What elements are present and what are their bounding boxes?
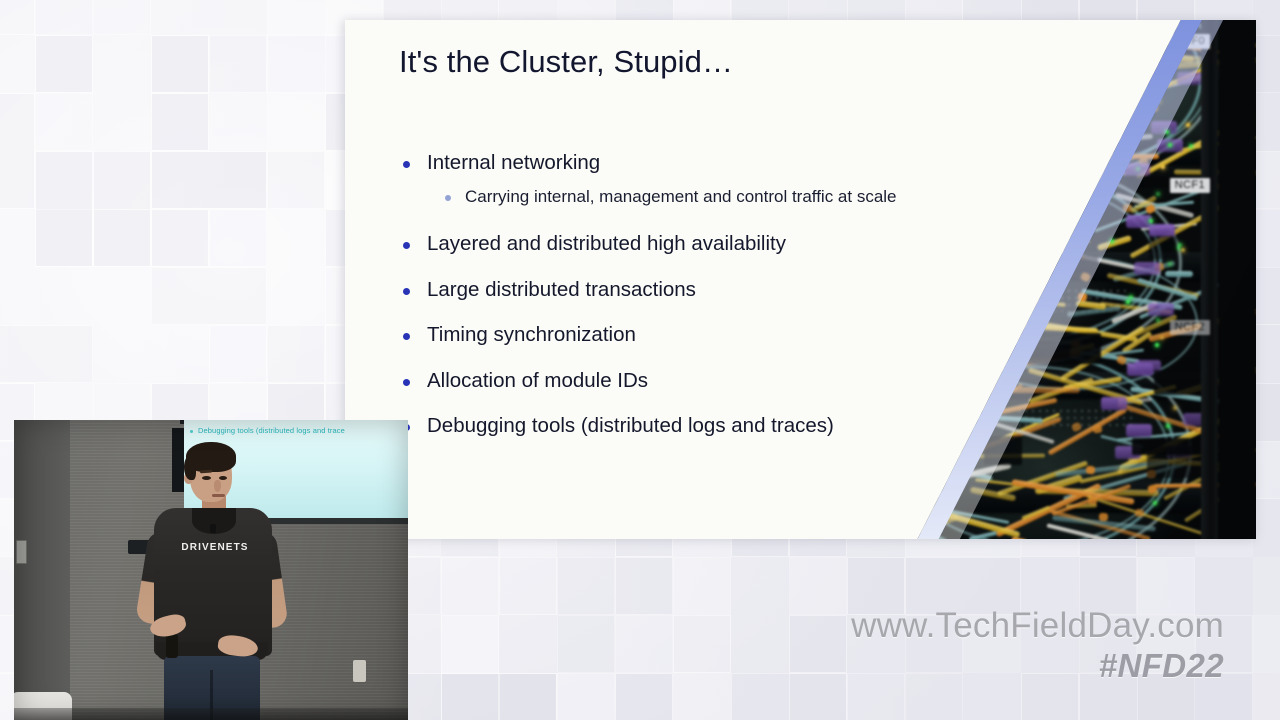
- rack-module: [1004, 67, 1041, 98]
- background-tile: [94, 0, 150, 34]
- rack-module: [1132, 438, 1205, 455]
- optical-connector: [1134, 262, 1160, 275]
- background-tile: [268, 152, 324, 208]
- background-tile: [36, 94, 92, 150]
- fiber-cable: [846, 74, 985, 103]
- fiber-cable: [885, 87, 973, 101]
- rack-label-ncf0: NCF0: [1170, 34, 1210, 49]
- slide-sub-bullet: Carrying internal, management and contro…: [445, 187, 963, 207]
- fiber-cable: [1010, 54, 1080, 68]
- background-tile: [94, 210, 150, 266]
- slide-bullet: Debugging tools (distributed logs and tr…: [403, 414, 963, 438]
- presenter-badge: [166, 634, 178, 658]
- fiber-cable: [1014, 90, 1085, 116]
- bullet-text: Timing synchronization: [427, 323, 636, 347]
- room-floor: [14, 708, 408, 720]
- room-wall-left: [14, 420, 70, 720]
- background-tile: [1254, 442, 1280, 498]
- bullet-dot-icon: [445, 195, 451, 201]
- fiber-cable: [1037, 23, 1071, 35]
- cable-boot: [988, 93, 999, 103]
- rack-module: [1127, 176, 1176, 189]
- slide-bullet: Allocation of module IDs: [403, 369, 963, 393]
- background-tile: [1254, 36, 1280, 92]
- background-tile: [790, 616, 846, 672]
- rack-label-ncf2: NCF2: [1170, 320, 1210, 335]
- fiber-cable: [991, 110, 1060, 156]
- bullet-text: Carrying internal, management and contro…: [465, 187, 897, 207]
- bullet-text: Layered and distributed high availabilit…: [427, 232, 786, 256]
- slide-bullet: Large distributed transactions: [403, 278, 963, 302]
- light-switch: [16, 540, 27, 564]
- video-player-frame: It's the Cluster, Stupid… Internal netwo…: [0, 0, 1280, 720]
- optical-connector: [1126, 424, 1152, 437]
- fiber-cable: [926, 50, 970, 65]
- background-tile: [558, 616, 614, 672]
- optical-connector: [1136, 71, 1162, 84]
- background-tile: [268, 94, 324, 150]
- status-led-icon: [1129, 295, 1133, 299]
- presenter-shirt-logo: DRIVENETS: [178, 542, 252, 553]
- vent-grille: [976, 170, 1096, 196]
- projected-bullet-dot: [190, 430, 193, 433]
- cable-boot: [1099, 513, 1108, 521]
- fiber-cable: [864, 31, 998, 37]
- status-led-icon: [1160, 336, 1164, 340]
- rack-module: [1040, 142, 1089, 176]
- background-tile: [1254, 268, 1280, 324]
- background-tile: [152, 210, 208, 266]
- rack-module: [1004, 71, 1071, 93]
- optical-connector: [1149, 224, 1175, 237]
- rack-module: [1059, 195, 1089, 220]
- bullet-dot-icon: [403, 379, 410, 386]
- cable-boot: [901, 117, 913, 128]
- fiber-cable: [881, 459, 960, 479]
- status-led-icon: [1165, 130, 1169, 134]
- rack-module: [1044, 222, 1094, 239]
- fiber-cable: [1045, 116, 1090, 133]
- status-led-icon: [1173, 406, 1177, 410]
- cable-boot: [907, 72, 919, 83]
- projected-slide-text: Debugging tools (distributed logs and tr…: [198, 426, 345, 435]
- background-tile: [558, 558, 614, 614]
- slide-title: It's the Cluster, Stupid…: [399, 44, 733, 80]
- fiber-cable: [872, 49, 939, 57]
- slide-bullet: Layered and distributed high availabilit…: [403, 232, 963, 256]
- background-tile: [0, 0, 34, 34]
- cable-boot: [1003, 181, 1013, 191]
- fiber-cable: [1067, 59, 1121, 79]
- cable-boot: [938, 85, 947, 93]
- optical-connector: [1148, 303, 1174, 316]
- bullet-dot-icon: [403, 242, 410, 249]
- optical-connector: [1101, 397, 1127, 410]
- status-led-icon: [1130, 76, 1134, 80]
- status-led-icon: [1155, 343, 1159, 347]
- fiber-cable: [891, 478, 949, 500]
- fiber-cable: [992, 220, 1063, 249]
- watermark-url: www.TechFieldDay.com: [851, 608, 1224, 645]
- status-led-icon: [1139, 77, 1143, 81]
- fiber-cable: [862, 472, 947, 476]
- bullet-text: Internal networking: [427, 151, 600, 175]
- fiber-cable: [827, 71, 859, 83]
- wall-outlet: [353, 660, 366, 682]
- cable-boot: [975, 229, 986, 239]
- background-tile: [790, 674, 846, 720]
- status-led-icon: [1126, 300, 1130, 304]
- fiber-cable: [1032, 20, 1146, 60]
- background-tile: [152, 94, 208, 150]
- background-tile: [152, 36, 208, 92]
- status-led-icon: [1156, 99, 1160, 103]
- background-tile: [36, 36, 92, 92]
- fiber-cable: [842, 42, 952, 93]
- status-led-icon: [1107, 194, 1111, 198]
- cable-boot: [1054, 107, 1064, 117]
- background-tile: [36, 210, 92, 266]
- cable-boot: [1134, 48, 1146, 59]
- background-tile: [674, 616, 730, 672]
- cable-boot: [1123, 204, 1132, 212]
- watermark: www.TechFieldDay.com #NFD22: [851, 608, 1224, 686]
- rack-module: [957, 194, 1040, 217]
- background-tile: [616, 616, 672, 672]
- background-tile: [500, 674, 556, 720]
- background-tile: [0, 326, 92, 382]
- fiber-cable: [1021, 106, 1114, 164]
- presentation-slide: It's the Cluster, Stupid… Internal netwo…: [345, 20, 1256, 539]
- background-tile: [210, 210, 266, 266]
- cable-boot: [908, 518, 917, 526]
- fiber-cable: [995, 277, 1051, 283]
- presenter-nose: [214, 480, 221, 492]
- fiber-cable: [988, 387, 1080, 392]
- fiber-cable: [874, 469, 931, 483]
- fiber-cable: [1041, 133, 1131, 142]
- rack-module: [1035, 255, 1097, 272]
- background-tile: [616, 674, 672, 720]
- fiber-cable: [1023, 196, 1061, 224]
- bullet-dot-icon: [403, 288, 410, 295]
- fiber-cable: [886, 125, 938, 145]
- optical-connector: [1177, 72, 1203, 85]
- presenter-video-inset[interactable]: Debugging tools (distributed logs and tr…: [14, 420, 408, 720]
- background-tile: [210, 326, 266, 382]
- bullet-text: Debugging tools (distributed logs and tr…: [427, 414, 834, 438]
- slide-bullet: Timing synchronization: [403, 323, 963, 347]
- fiber-cable: [969, 25, 1041, 51]
- presenter-eye-left: [202, 476, 211, 480]
- background-tile: [0, 94, 34, 208]
- fiber-cable: [978, 103, 1091, 135]
- presenter-eye-right: [219, 476, 227, 480]
- background-tile: [268, 326, 324, 382]
- fiber-cable: [865, 110, 952, 121]
- background-tile: [674, 674, 730, 720]
- lapel-mic: [210, 524, 216, 533]
- fiber-cable: [1004, 64, 1071, 107]
- fiber-cable: [960, 169, 997, 179]
- rack-module: [958, 299, 1020, 330]
- rack-label-ncf1: NCF1: [1170, 178, 1210, 193]
- fiber-cable: [994, 163, 1036, 171]
- fiber-cable: [978, 319, 1019, 344]
- background-tile: [1254, 616, 1280, 720]
- background-tile: [558, 674, 614, 720]
- fiber-cable: [857, 25, 902, 55]
- slide-bullet: Internal networking: [403, 151, 963, 175]
- fiber-cable: [1047, 65, 1151, 100]
- background-tile: [210, 36, 266, 92]
- fiber-cable: [888, 119, 922, 127]
- bullet-text: Large distributed transactions: [427, 278, 696, 302]
- cable-boot: [1093, 424, 1103, 433]
- cable-boot: [905, 85, 915, 94]
- fiber-cable: [990, 202, 1045, 211]
- rack-post: [1201, 20, 1218, 539]
- rack-module: [1149, 236, 1178, 259]
- fiber-cable: [920, 64, 982, 77]
- status-led-icon: [1186, 123, 1190, 127]
- rack-module: [1039, 66, 1114, 91]
- background-tile: [1254, 152, 1280, 208]
- rack-module: [998, 345, 1070, 359]
- rack-side-panel: [1218, 20, 1256, 539]
- fiber-cable: [913, 90, 1057, 97]
- rack-module: [984, 436, 1022, 465]
- rack-module: [954, 84, 1039, 99]
- presenter-mouth: [212, 494, 225, 497]
- background-tile: [152, 268, 266, 324]
- rack-module: [961, 56, 998, 82]
- background-tile: [36, 0, 92, 34]
- fiber-cable: [1044, 86, 1136, 109]
- fiber-cable: [1020, 70, 1077, 101]
- cable-boot: [1075, 163, 1085, 172]
- cable-boot: [1087, 496, 1097, 505]
- background-tile: [790, 558, 846, 614]
- fiber-cable: [910, 462, 946, 468]
- fiber-cable: [989, 130, 1054, 146]
- background-tile: [500, 558, 556, 614]
- background-tile: [616, 558, 672, 614]
- bullet-dot-icon: [403, 333, 410, 340]
- cable-boot: [988, 150, 998, 159]
- background-tile: [152, 152, 266, 208]
- watermark-hashtag: #NFD22: [851, 645, 1224, 686]
- presenter-hair-side: [184, 456, 196, 480]
- fiber-cable: [1165, 270, 1193, 276]
- cable-boot: [1043, 156, 1053, 166]
- bullet-text: Allocation of module IDs: [427, 369, 648, 393]
- status-led-icon: [1136, 167, 1140, 171]
- slide-bullet-list: Internal networkingCarrying internal, ma…: [403, 151, 963, 460]
- bullet-dot-icon: [403, 161, 410, 168]
- fiber-cable: [959, 112, 1061, 167]
